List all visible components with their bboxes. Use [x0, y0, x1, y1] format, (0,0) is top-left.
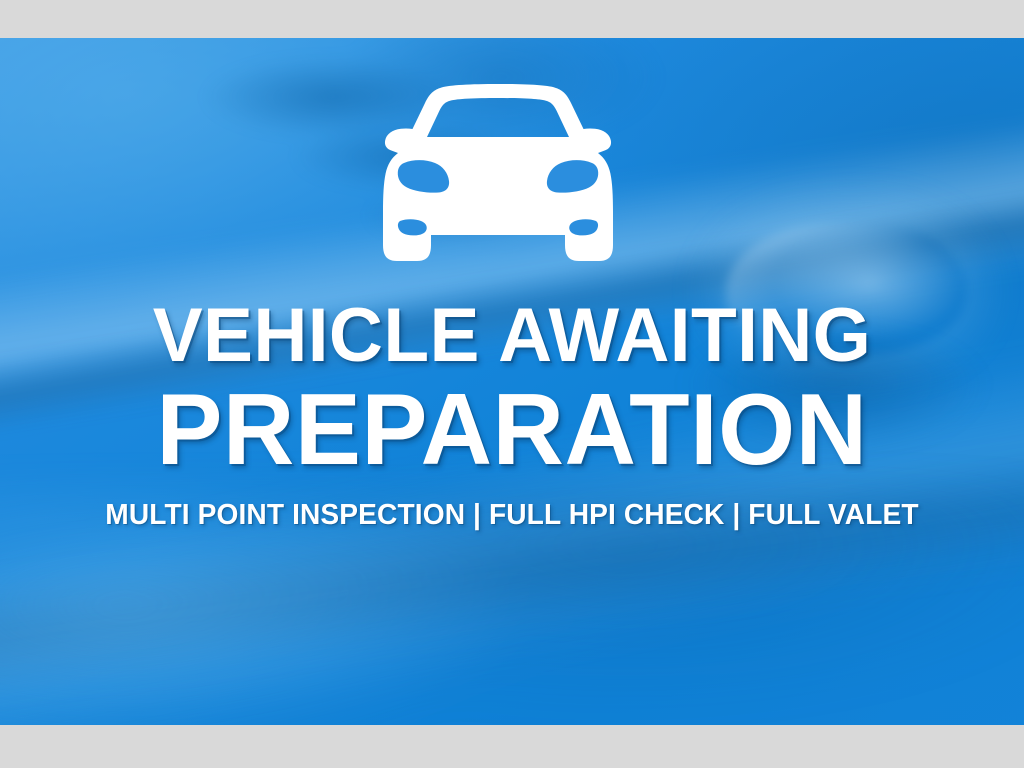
headline-line-2: PREPARATION [10, 380, 1014, 481]
vehicle-placeholder-image: VEHICLE AWAITING PREPARATION MULTI POINT… [0, 38, 1024, 725]
headline-line-1: VEHICLE AWAITING [8, 298, 1017, 374]
placeholder-text-block: VEHICLE AWAITING PREPARATION MULTI POINT… [0, 298, 1024, 532]
screenshot-stage: VEHICLE AWAITING PREPARATION MULTI POINT… [0, 0, 1024, 768]
car-front-icon [370, 80, 626, 276]
letterbox-bar-bottom [0, 725, 1024, 768]
letterbox-bar-top [0, 0, 1024, 38]
subtitle-services: MULTI POINT INSPECTION | FULL HPI CHECK … [15, 499, 1008, 532]
